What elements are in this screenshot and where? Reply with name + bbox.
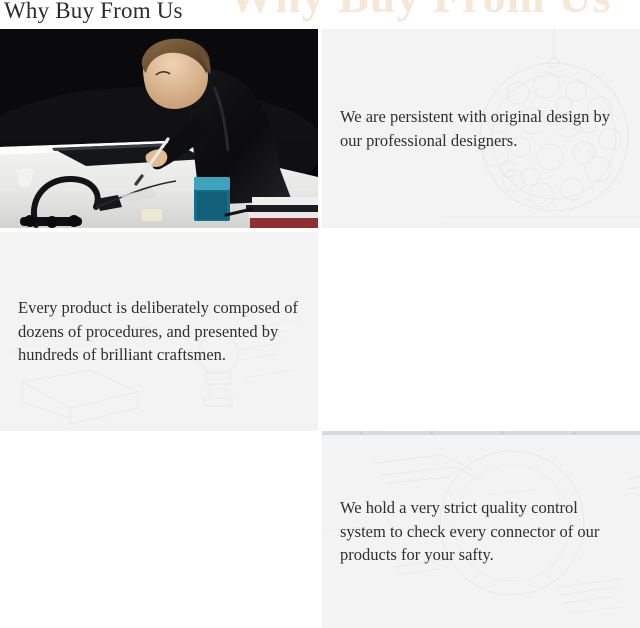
why-buy-from-us-page: Why Buy From Us Why Buy From Us [0,0,640,628]
feature-text-design-copy: We are persistent with original design b… [322,105,640,153]
feature-text-quality-copy: We hold a very strict quality control sy… [322,496,640,568]
header-watermark-text: Why Buy From Us [228,0,611,23]
features-grid: We are persistent with original design b… [0,29,640,628]
designer-photo-illustration [0,29,318,228]
feature-text-manufacturing: Every product is deliberately composed o… [0,232,318,431]
photo-designer [0,29,318,228]
feature-text-quality: We hold a very strict quality control sy… [322,435,640,628]
page-title: Why Buy From Us [4,0,183,24]
feature-text-manufacturing-copy: Every product is deliberately composed o… [0,296,318,368]
page-header: Why Buy From Us Why Buy From Us [0,0,640,29]
feature-text-design: We are persistent with original design b… [322,29,640,228]
